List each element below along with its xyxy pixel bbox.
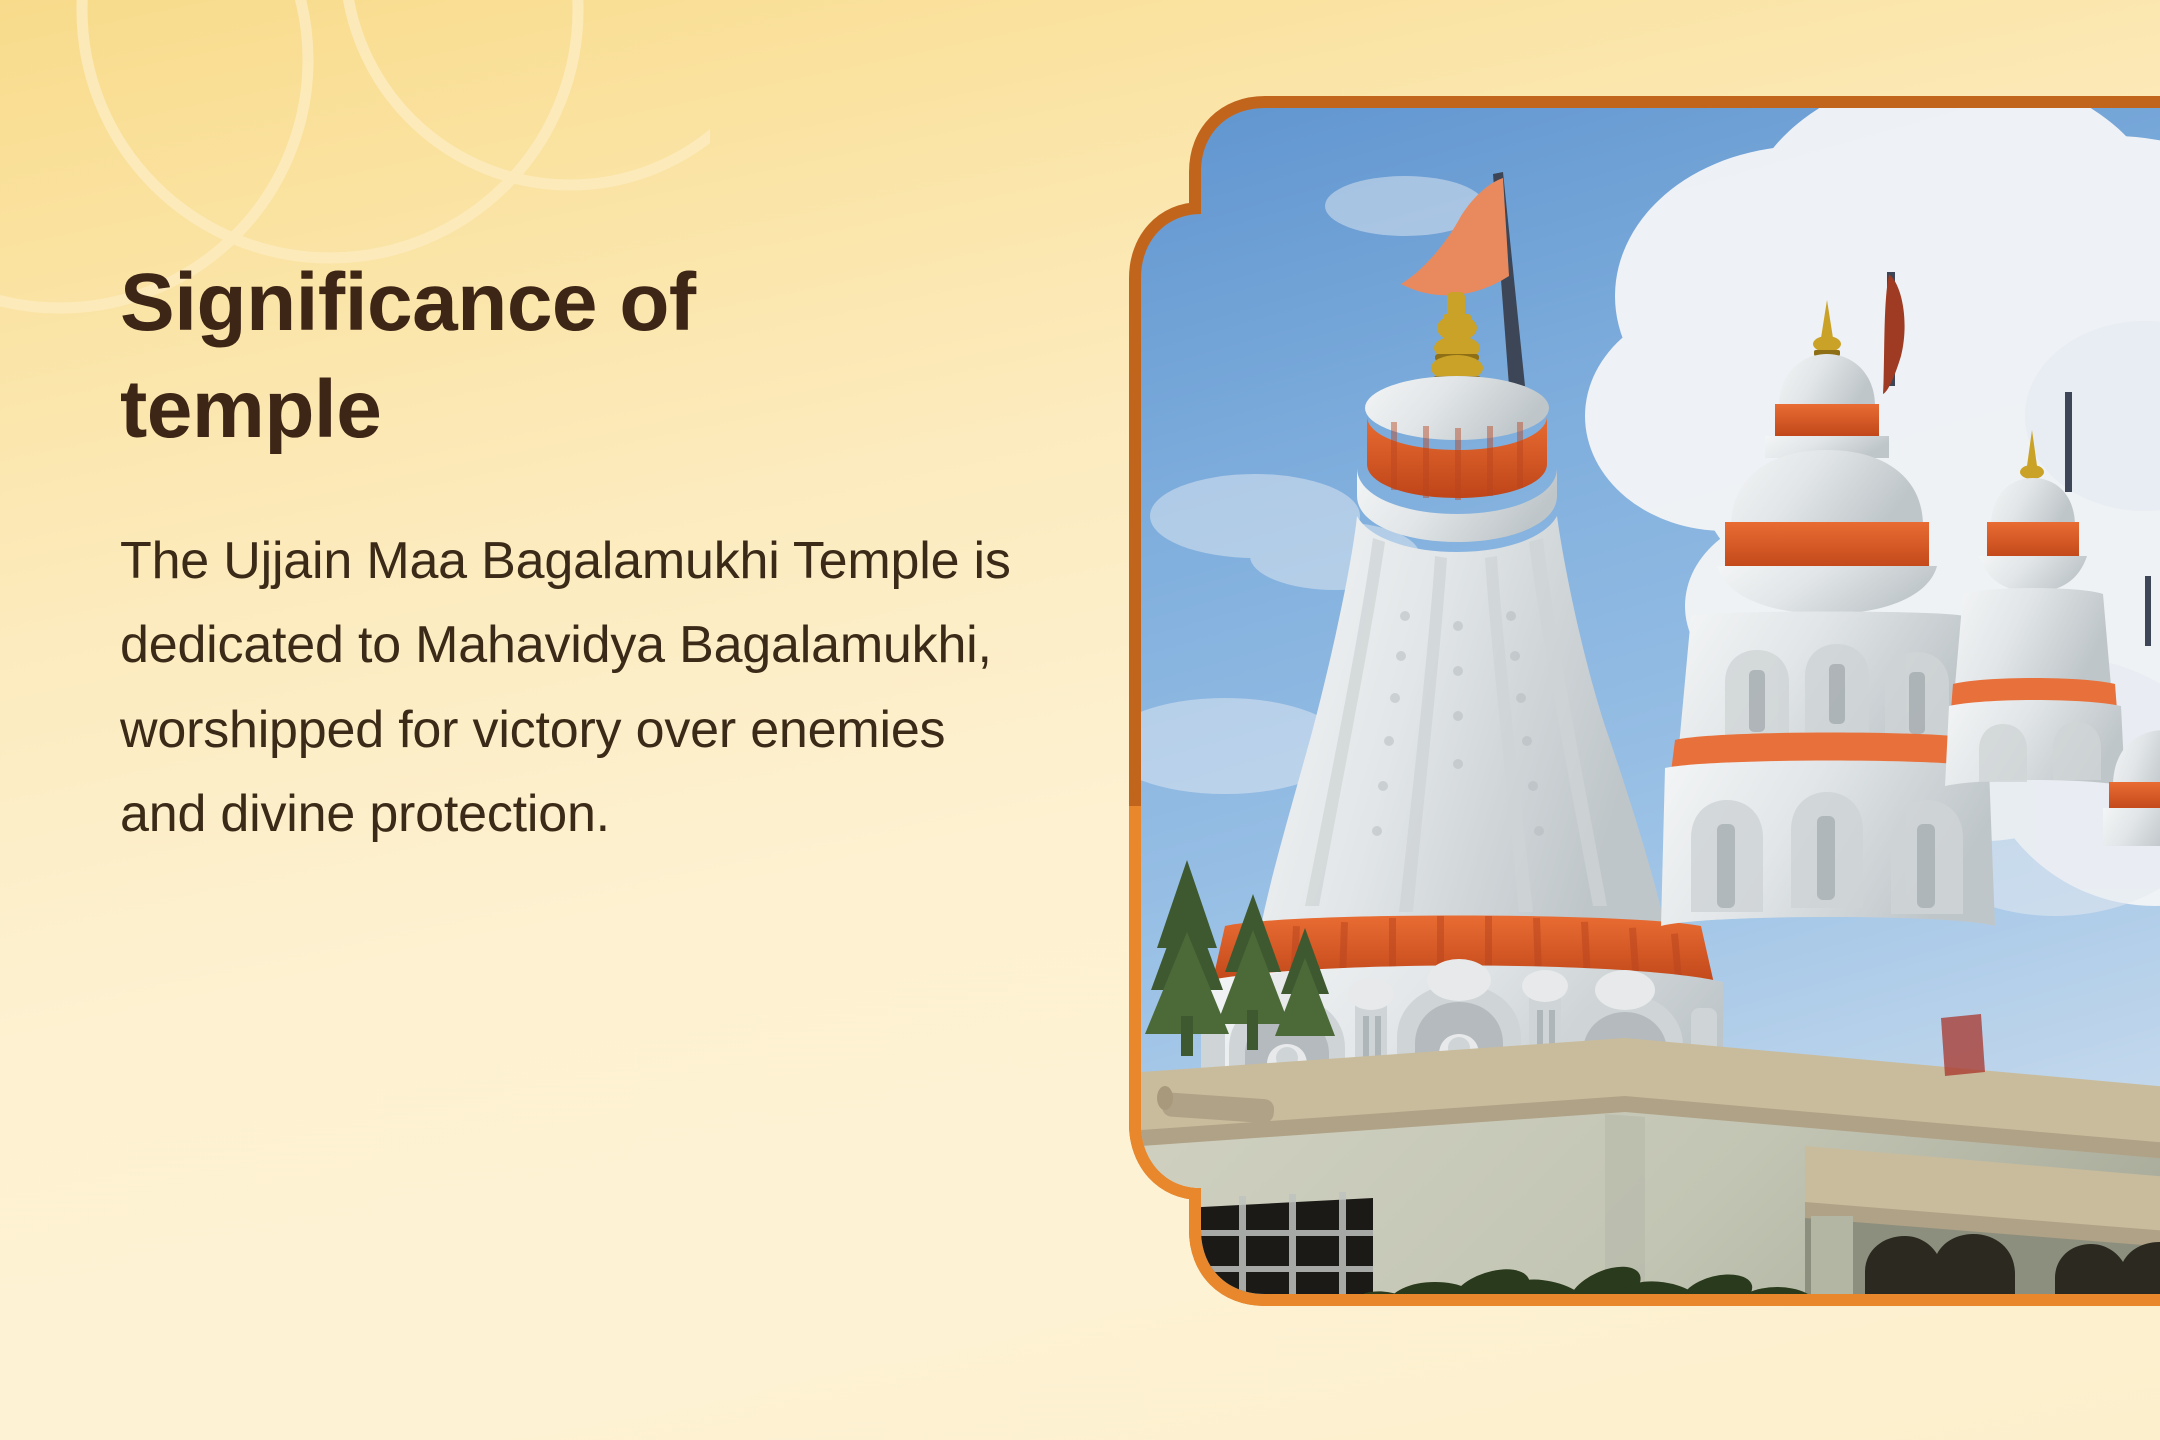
body-paragraph: The Ujjain Maa Bagalamukhi Temple is ded… [120, 519, 1025, 856]
temple-photo-frame [1105, 86, 2160, 1316]
page-title: Significance of temple [120, 250, 820, 463]
temple-photo [1105, 86, 2160, 1316]
text-column: Significance of temple The Ujjain Maa Ba… [120, 250, 1050, 856]
temple-photo-content [1105, 86, 2160, 1316]
slide-canvas: Significance of temple The Ujjain Maa Ba… [0, 0, 2160, 1440]
